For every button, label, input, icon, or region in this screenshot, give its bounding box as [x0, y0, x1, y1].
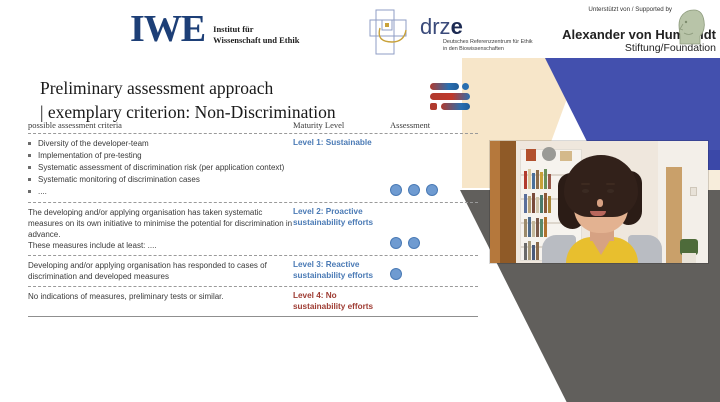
criteria-bullet-item: Systematic assessment of discrimination … [28, 162, 293, 173]
cell-assessment [390, 260, 478, 282]
cell-criteria: No indications of measures, preliminary … [28, 291, 293, 312]
slide-title-line2: | exemplary criterion: Non-Discriminatio… [40, 100, 440, 124]
assessment-dot [408, 237, 420, 249]
sliders-bars-icon [430, 83, 470, 110]
assessment-dot [390, 268, 402, 280]
table-row: Diversity of the developer-teamImplement… [28, 134, 478, 202]
presentation-slide: IWE Institut für Wissenschaft und Ethik … [0, 0, 720, 402]
slide-title: Preliminary assessment approach | exempl… [40, 76, 440, 124]
cell-maturity-level: Level 2: Proactive sustainability effort… [293, 207, 390, 251]
video-decor-box [526, 149, 536, 161]
assessment-dot [390, 237, 402, 249]
drze-logo: drze Deutsches Referenzzentrum für Ethik… [368, 6, 488, 58]
iwe-wordmark: IWE [130, 10, 205, 48]
table-row-divider [28, 316, 478, 317]
presenter-brow-left [581, 183, 590, 185]
cell-assessment [390, 291, 478, 312]
assessment-dot [408, 184, 420, 196]
slide-header: IWE Institut für Wissenschaft und Ethik … [0, 0, 720, 58]
table-row: Developing and/or applying organisation … [28, 256, 478, 286]
iwe-subtitle-line1: Institut für [213, 24, 299, 35]
cell-assessment [390, 138, 478, 198]
cell-criteria: Diversity of the developer-teamImplement… [28, 138, 293, 198]
presenter-brow-right [606, 183, 615, 185]
criteria-bullet-item: Implementation of pre-testing [28, 150, 293, 161]
drze-word-prefix: drz [420, 14, 451, 39]
presenter-eye-left [582, 189, 589, 193]
video-presenter [542, 155, 660, 263]
cell-maturity-level: Level 1: Sustainable [293, 138, 390, 198]
presenter-hair [564, 155, 638, 217]
assessment-dot [426, 184, 438, 196]
humboldt-head-icon [674, 8, 708, 46]
iwe-subtitle-line2: Wissenschaft und Ethik [213, 35, 299, 46]
cell-assessment [390, 207, 478, 251]
cell-criteria: Developing and/or applying organisation … [28, 260, 293, 282]
slide-title-line1: Preliminary assessment approach [40, 76, 440, 100]
webcam-presenter-feed[interactable] [490, 141, 708, 263]
humboldt-logo: Unterstützt von / Supported by Alexander… [562, 6, 716, 55]
assessment-dot [390, 184, 402, 196]
assessment-table: possible assessment criteria Maturity Le… [28, 120, 478, 317]
criteria-paragraph: These measures include at least: .... [28, 240, 293, 251]
presenter-nose [597, 199, 603, 207]
criteria-bullet-item: Diversity of the developer-team [28, 138, 293, 149]
criteria-paragraph: Developing and/or applying organisation … [28, 260, 293, 282]
presenter-mouth [590, 211, 606, 216]
video-left-wall-shadow [500, 141, 516, 263]
drze-wordmark: drze [420, 16, 463, 38]
iwe-logo: IWE Institut für Wissenschaft und Ethik [130, 10, 299, 48]
criteria-bullet-list: Diversity of the developer-teamImplement… [28, 138, 293, 197]
cell-maturity-level: Level 4: No sustainability efforts [293, 291, 390, 312]
table-row: The developing and/or applying organisat… [28, 203, 478, 255]
cell-maturity-level: Level 3: Reactive sustainability efforts [293, 260, 390, 282]
humboldt-supported-by: Unterstützt von / Supported by [562, 6, 672, 13]
criteria-paragraph: The developing and/or applying organisat… [28, 207, 293, 240]
video-books-row-4 [524, 241, 539, 260]
video-plant-pot [682, 253, 696, 263]
criteria-bullet-item: .... [28, 186, 293, 197]
cell-criteria: The developing and/or applying organisat… [28, 207, 293, 251]
criteria-paragraph: No indications of measures, preliminary … [28, 291, 293, 302]
drze-word-accent: e [451, 14, 463, 39]
iwe-subtitle: Institut für Wissenschaft und Ethik [213, 10, 299, 46]
table-row: No indications of measures, preliminary … [28, 287, 478, 316]
video-light-switch [690, 187, 697, 196]
drze-cross-icon [368, 6, 428, 58]
presenter-eye-right [607, 189, 614, 193]
criteria-bullet-item: Systematic monitoring of discrimination … [28, 174, 293, 185]
